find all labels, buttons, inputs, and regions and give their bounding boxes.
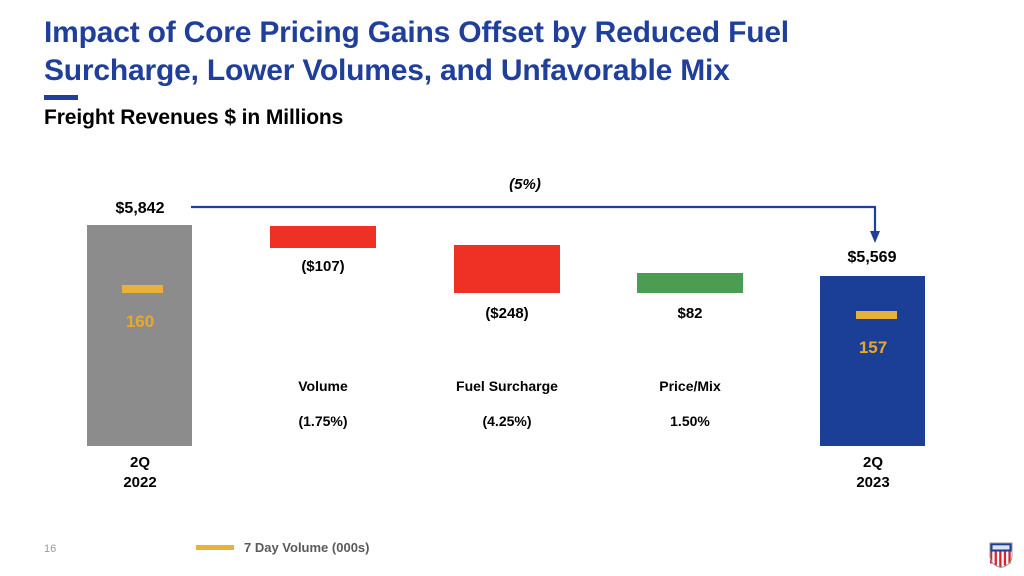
bar-value-price-mix: $82 [637, 305, 743, 322]
driver-label-price-mix: Price/Mix [659, 378, 720, 394]
bar-caption-price-mix: Price/Mix 1.50% [625, 378, 755, 429]
volume-marker-2023 [856, 311, 897, 319]
bar-caption-fuel-surcharge: Fuel Surcharge (4.25%) [437, 378, 577, 429]
axis-label-2q-2023: 2Q 2023 [821, 453, 925, 494]
axis-label-2q-2023-line2: 2023 [856, 474, 889, 491]
axis-label-2q-2022-line2: 2022 [123, 474, 156, 491]
bar-2q-2023[interactable] [820, 276, 925, 446]
driver-percent-price-mix: 1.50% [625, 413, 755, 429]
axis-label-2q-2022: 2Q 2022 [88, 453, 192, 494]
bar-fuel-surcharge[interactable] [454, 245, 560, 293]
driver-label-volume: Volume [298, 378, 348, 394]
axis-label-2q-2022-line1: 2Q [130, 454, 150, 471]
union-pacific-shield-logo [988, 541, 1014, 574]
bar-2q-2022[interactable] [87, 225, 192, 446]
bar-price-mix[interactable] [637, 273, 743, 293]
chart-legend: 7 Day Volume (000s) [196, 540, 369, 555]
waterfall-chart: (5%) $5,842 160 2Q 2022 ($107) Volume (1… [0, 0, 1024, 576]
slide-canvas: Impact of Core Pricing Gains Offset by R… [0, 0, 1024, 576]
volume-value-2023: 157 [821, 338, 925, 358]
bar-value-volume: ($107) [270, 258, 376, 275]
legend-label-7-day-volume: 7 Day Volume (000s) [244, 540, 369, 555]
volume-value-2022: 160 [88, 312, 192, 332]
bar-volume[interactable] [270, 226, 376, 248]
axis-label-2q-2023-line1: 2Q [863, 454, 883, 471]
bar-value-fuel-surcharge: ($248) [454, 305, 560, 322]
page-number: 16 [44, 543, 56, 555]
driver-percent-volume: (1.75%) [258, 413, 388, 429]
total-change-percent: (5%) [435, 176, 615, 193]
bar-value-end: $5,569 [820, 249, 924, 267]
volume-marker-2022 [122, 285, 163, 293]
driver-percent-fuel-surcharge: (4.25%) [437, 413, 577, 429]
bar-value-start: $5,842 [88, 200, 192, 218]
legend-swatch-7-day-volume [196, 545, 234, 550]
driver-label-fuel-surcharge: Fuel Surcharge [456, 378, 558, 394]
bar-caption-volume: Volume (1.75%) [258, 378, 388, 429]
